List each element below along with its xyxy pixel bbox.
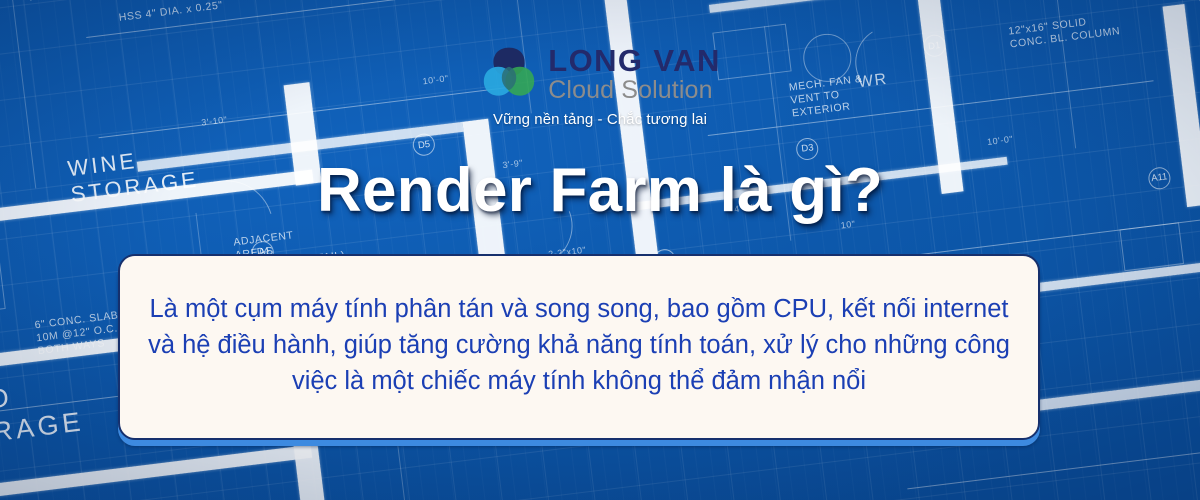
logo-wordmark: LONG VAN Cloud Solution [548, 45, 720, 103]
description-text: Là một cụm máy tính phân tán và song son… [146, 291, 1012, 400]
brand-logo-block: LONG VAN Cloud Solution Vững nền tảng - … [0, 44, 1200, 128]
long-van-trefoil-logo-icon [479, 44, 539, 104]
render-farm-banner: COLDSTORAGE WINESTORAGE STEAMROOM CLOSET… [0, 0, 1200, 500]
banner-title: Render Farm là gì? [0, 155, 1200, 226]
logo-name-primary: LONG VAN [548, 45, 720, 76]
logo-row: LONG VAN Cloud Solution [479, 44, 720, 104]
blueprint-rect-detail [1120, 222, 1185, 271]
description-card: Là một cụm máy tính phân tán và song son… [118, 254, 1040, 440]
brand-tagline: Vững nền tảng - Chắc tương lai [493, 111, 707, 128]
logo-name-secondary: Cloud Solution [548, 78, 720, 103]
